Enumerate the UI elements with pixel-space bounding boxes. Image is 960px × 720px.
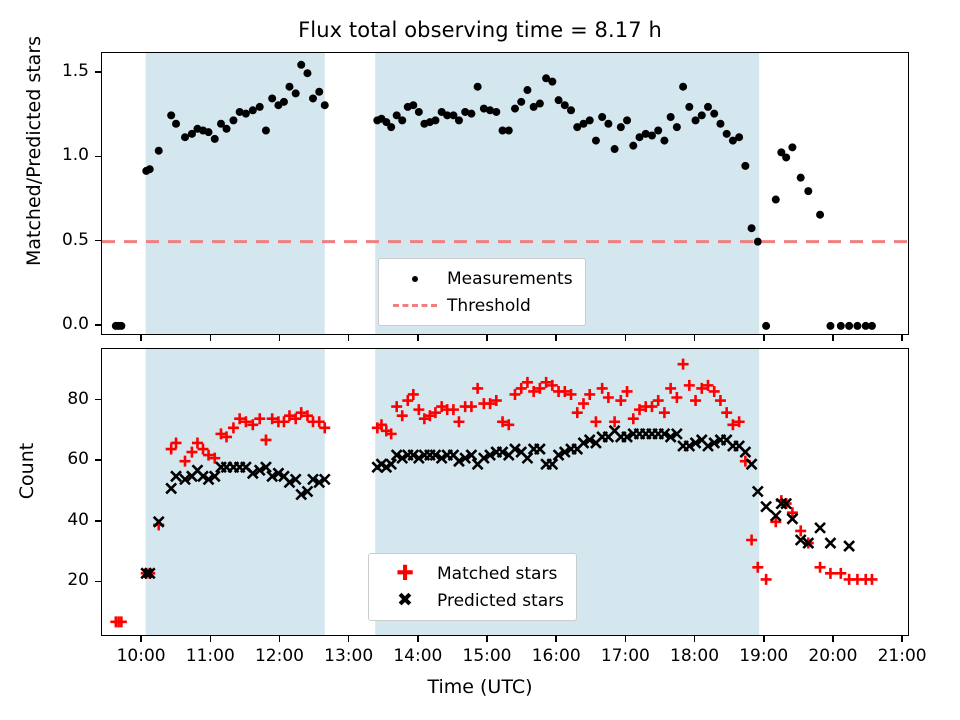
x-tick-top-4: [417, 335, 419, 341]
measurement-point: [181, 133, 189, 141]
measurement-point: [617, 123, 625, 131]
measurement-point: [303, 69, 311, 77]
legend-label-measurements: Measurements: [441, 269, 573, 289]
measurement-point: [256, 103, 264, 111]
legend-label-threshold: Threshold: [441, 296, 531, 316]
y-tick-top-3: [95, 71, 101, 73]
measurement-point: [648, 132, 656, 140]
y-tick-top-1: [95, 240, 101, 242]
measurement-point: [292, 89, 300, 97]
y-tick-label-top-0: 0.0: [0, 314, 89, 334]
measurement-point: [692, 116, 700, 124]
matched-star-marker: [866, 574, 877, 585]
measurement-point: [517, 98, 525, 106]
measurement-point: [146, 165, 154, 173]
predicted-star-marker: [825, 538, 835, 548]
x-axis-label: Time (UTC): [0, 676, 960, 698]
measurement-point: [285, 83, 293, 91]
measurement-point: [297, 61, 305, 69]
x-tick-top-1: [210, 335, 212, 341]
x-tick-top-10: [832, 335, 834, 341]
x-tick-bottom-7: [625, 636, 627, 642]
measurement-point: [586, 116, 594, 124]
measurement-point: [223, 125, 231, 133]
measurement-point: [467, 110, 475, 118]
measurement-point: [211, 135, 219, 143]
x-tick-label-11: 21:00: [857, 646, 947, 666]
measurement-point: [415, 108, 423, 116]
measurement-point: [309, 94, 317, 102]
y-tick-top-0: [95, 324, 101, 326]
measurement-point: [205, 128, 213, 136]
measurement-point: [804, 187, 812, 195]
measurement-point: [505, 126, 513, 134]
predicted-star-marker: [815, 523, 825, 533]
measurement-point: [492, 108, 500, 116]
measurement-point: [654, 126, 662, 134]
measurement-point: [782, 153, 790, 161]
x-tick-top-8: [694, 335, 696, 341]
matched-star-marker: [835, 568, 846, 579]
measurement-point: [762, 322, 770, 330]
point-marker-icon: [389, 276, 441, 282]
measurement-point: [679, 83, 687, 91]
x-tick-bottom-1: [210, 636, 212, 642]
bottom-panel-legend: ✚ Matched stars ✖ Predicted stars: [368, 553, 577, 621]
x-tick-top-3: [348, 335, 350, 341]
x-tick-bottom-3: [348, 636, 350, 642]
measurement-point: [555, 96, 563, 104]
y-tick-label-bottom-3: 80: [0, 389, 89, 409]
y-tick-label-bottom-1: 40: [0, 510, 89, 530]
y-tick-bottom-0: [95, 581, 101, 583]
x-tick-top-6: [555, 335, 557, 341]
measurement-point: [623, 116, 631, 124]
legend-label-predicted-stars: Predicted stars: [431, 591, 564, 611]
measurement-point: [788, 143, 796, 151]
measurement-point: [321, 101, 329, 109]
measurement-point: [748, 224, 756, 232]
measurement-point: [592, 137, 600, 145]
measurement-point: [172, 120, 180, 128]
measurement-point: [816, 211, 824, 219]
measurement-point: [797, 174, 805, 182]
measurement-point: [667, 113, 675, 121]
x-tick-bottom-8: [694, 636, 696, 642]
x-tick-top-0: [140, 335, 142, 341]
measurement-point: [598, 113, 606, 121]
y-tick-top-2: [95, 156, 101, 158]
x-tick-bottom-2: [279, 636, 281, 642]
measurement-point: [242, 110, 250, 118]
measurement-point: [604, 120, 612, 128]
measurement-point: [474, 83, 482, 91]
measurement-point: [772, 196, 780, 204]
top-panel-legend: Measurements Threshold: [378, 258, 586, 326]
measurement-point: [685, 103, 693, 111]
figure-title: Flux total observing time = 8.17 h: [0, 18, 960, 42]
x-tick-bottom-11: [901, 636, 903, 642]
measurement-point: [155, 147, 163, 155]
measurement-point: [280, 98, 288, 106]
measurement-point: [629, 142, 637, 150]
matched-star-marker: [815, 562, 826, 573]
measurement-point: [268, 94, 276, 102]
x-tick-bottom-6: [555, 636, 557, 642]
y-tick-label-top-3: 1.5: [0, 61, 89, 81]
y-tick-label-bottom-2: 60: [0, 449, 89, 469]
y-tick-bottom-3: [95, 399, 101, 401]
measurement-point: [716, 120, 724, 128]
y-tick-label-top-1: 0.5: [0, 230, 89, 250]
x-tick-top-5: [486, 335, 488, 341]
measurement-point: [754, 238, 762, 246]
y-tick-bottom-2: [95, 459, 101, 461]
x-marker-icon: ✖: [379, 591, 431, 610]
measurement-point: [249, 106, 257, 114]
predicted-star-marker: [761, 502, 771, 512]
measurement-point: [611, 145, 619, 153]
matched-star-marker: [825, 568, 836, 579]
measurement-point: [431, 116, 439, 124]
measurement-point: [853, 322, 861, 330]
measurement-point: [523, 86, 531, 94]
x-tick-bottom-9: [763, 636, 765, 642]
measurement-point: [511, 105, 519, 113]
measurement-point: [735, 133, 743, 141]
measurement-point: [660, 137, 668, 145]
legend-label-matched-stars: Matched stars: [431, 564, 557, 584]
x-tick-bottom-0: [140, 636, 142, 642]
measurement-point: [698, 111, 706, 119]
x-tick-top-7: [625, 335, 627, 341]
matched-star-marker: [761, 574, 772, 585]
measurement-point: [455, 116, 463, 124]
measurement-point: [387, 123, 395, 131]
measurement-point: [868, 322, 876, 330]
predicted-star-marker: [844, 541, 854, 551]
y-tick-label-bottom-0: 20: [0, 570, 89, 590]
x-tick-top-11: [901, 335, 903, 341]
dashed-line-marker-icon: [389, 304, 441, 307]
x-tick-bottom-4: [417, 636, 419, 642]
measurement-point: [837, 322, 845, 330]
measurement-point: [561, 101, 569, 109]
measurement-point: [704, 103, 712, 111]
x-tick-top-2: [279, 335, 281, 341]
legend-entry-predicted-stars: ✖ Predicted stars: [379, 587, 564, 614]
legend-entry-matched-stars: ✚ Matched stars: [379, 560, 564, 587]
measurement-point: [723, 130, 731, 138]
legend-entry-threshold: Threshold: [389, 292, 573, 319]
measurement-point: [548, 78, 556, 86]
x-tick-top-9: [763, 335, 765, 341]
measurement-point: [229, 116, 237, 124]
measurement-point: [710, 110, 718, 118]
measurement-point: [409, 101, 417, 109]
measurement-point: [567, 106, 575, 114]
x-tick-bottom-10: [832, 636, 834, 642]
measurement-point: [117, 322, 125, 330]
measurement-point: [536, 100, 544, 108]
measurement-point: [167, 111, 175, 119]
plus-marker-icon: ✚: [379, 563, 431, 584]
x-tick-bottom-5: [486, 636, 488, 642]
y-tick-bottom-1: [95, 520, 101, 522]
legend-entry-measurements: Measurements: [389, 265, 573, 292]
measurement-point: [845, 322, 853, 330]
measurement-point: [673, 123, 681, 131]
measurement-point: [315, 88, 323, 96]
measurement-point: [741, 162, 749, 170]
figure: Flux total observing time = 8.17 h Match…: [0, 0, 960, 720]
measurement-point: [398, 116, 406, 124]
measurement-point: [262, 126, 270, 134]
measurement-point: [826, 322, 834, 330]
y-tick-label-top-2: 1.0: [0, 145, 89, 165]
